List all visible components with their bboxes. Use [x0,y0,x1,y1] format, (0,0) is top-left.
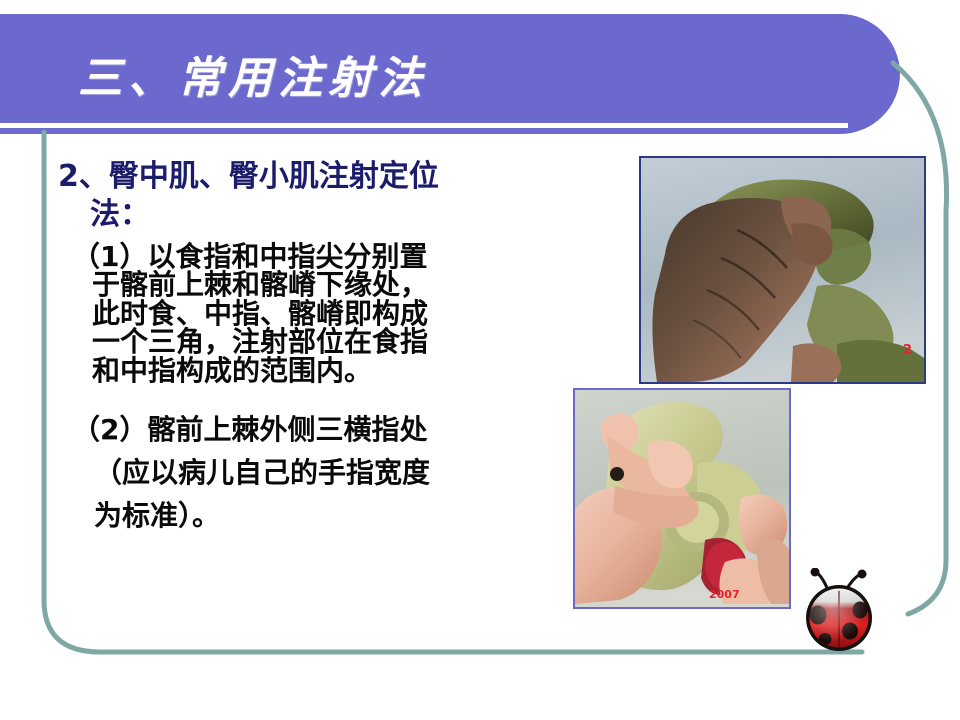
body-content: 2、臀中肌、臀小肌注射定位 法： （1）以食指和中指尖分别置 于髂前上棘和髂嵴下… [58,158,578,538]
svg-text:2: 2 [903,343,912,358]
section-heading-line-1: 2、臀中肌、臀小肌注射定位 [58,158,578,196]
list-item-1-line-4: 一个三角，注射部位在食指 [72,328,578,357]
photo-top-graphic: 2 [641,158,924,382]
photo-bottom-graphic: 2007 [575,390,789,607]
svg-text:2007: 2007 [709,588,740,601]
photo-two-hands-holding-pelvis-model: 2007 [573,388,791,609]
list-item-2: （2）髂前上棘外侧三横指处 （应以病儿自己的手指宽度 为标准）。 [58,408,578,538]
slide-canvas: 三、常用注射法 2、臀中肌、臀小肌注射定位 法： （1）以食指和中指尖分别置 于… [0,0,960,720]
list-item-2-line-2: （应以病儿自己的手指宽度 [72,451,578,494]
list-item-2-line-3: 为标准）。 [72,494,578,537]
list-item-1-line-5: 和中指构成的范围内。 [72,357,578,386]
page-title: 三、常用注射法 [78,42,428,106]
list-item-1: （1）以食指和中指尖分别置 于髂前上棘和髂嵴下缘处， 此时食、中指、髂嵴即构成 … [58,243,578,386]
header-divider-rule [0,123,848,128]
photo-hand-on-pelvis-model-dark: 2 [639,156,926,384]
ladybug-decoration-icon [798,568,882,654]
section-heading-line-2: 法： [58,196,578,234]
list-item-1-line-3: 此时食、中指、髂嵴即构成 [72,300,578,329]
list-item-1-line-1: （1）以食指和中指尖分别置 [72,243,578,272]
list-item-2-line-1: （2）髂前上棘外侧三横指处 [72,408,578,451]
list-item-1-line-2: 于髂前上棘和髂嵴下缘处， [72,271,578,300]
